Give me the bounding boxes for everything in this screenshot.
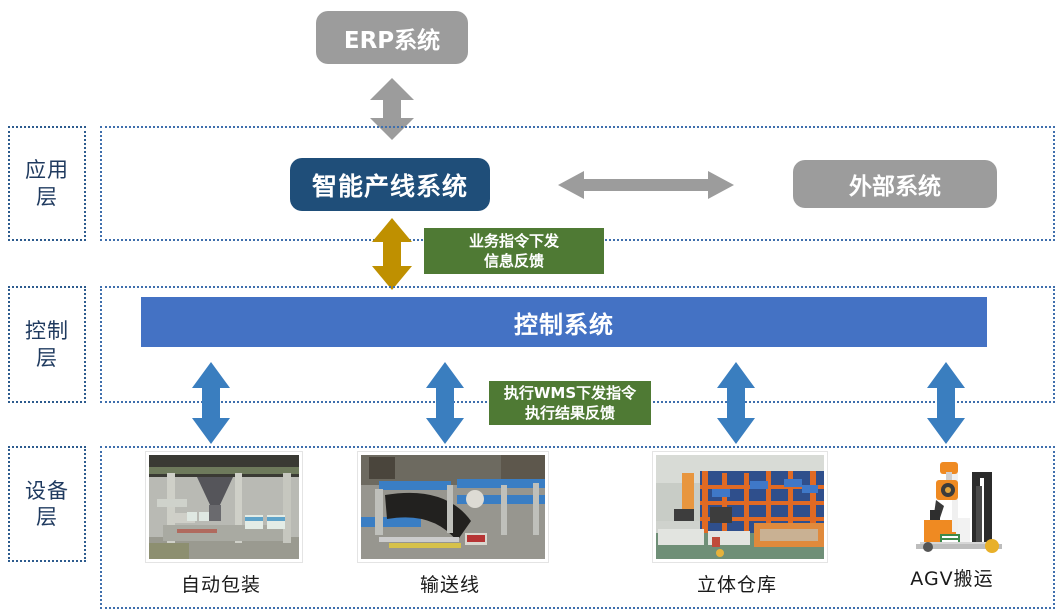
arrow-control-to-asrs	[715, 362, 757, 444]
node-erp-system[interactable]: ERP系统	[316, 11, 468, 64]
layer-label-control: 控制 层	[8, 286, 86, 403]
layer-label-control-line1: 控制	[24, 318, 70, 344]
arrow-control-to-agv	[925, 362, 967, 444]
automated-warehouse-photo	[653, 452, 827, 562]
device-card-agv-label: AGV搬运	[900, 564, 1004, 591]
device-card-packaging-label: 自动包装	[146, 570, 296, 597]
arrow-smartline-to-external	[558, 170, 734, 200]
device-card-conveyor[interactable]: 输送线	[358, 452, 542, 597]
node-erp-system-label: ERP系统	[344, 21, 440, 55]
device-card-asrs-label: 立体仓库	[653, 570, 821, 597]
layer-label-control-line2: 层	[24, 345, 70, 371]
node-smart-production-line-system-label: 智能产线系统	[312, 167, 468, 203]
flow-tag-business-instruction: 业务指令下发 信息反馈	[424, 228, 604, 274]
node-external-system-label: 外部系统	[849, 167, 941, 201]
layer-label-device: 设备 层	[8, 446, 86, 562]
device-card-conveyor-label: 输送线	[358, 570, 542, 597]
layer-label-application-line2: 层	[24, 184, 70, 210]
layer-label-application: 应用 层	[8, 126, 86, 241]
arrow-smartline-to-control	[370, 218, 414, 290]
arrow-control-to-conveyor	[424, 362, 466, 444]
node-control-system-label: 控制系统	[514, 305, 614, 340]
flow-tag-wms-line2: 执行结果反馈	[525, 403, 615, 423]
device-card-packaging[interactable]: 自动包装	[146, 452, 296, 597]
packaging-machine-photo	[146, 452, 302, 562]
flow-tag-business-line2: 信息反馈	[484, 251, 544, 271]
node-control-system[interactable]: 控制系统	[141, 297, 987, 347]
layer-label-device-line1: 设备	[24, 478, 70, 504]
node-external-system[interactable]: 外部系统	[793, 160, 997, 208]
flow-tag-wms-line1: 执行WMS下发指令	[504, 383, 636, 403]
device-card-asrs[interactable]: 立体仓库	[653, 452, 821, 597]
node-smart-production-line-system[interactable]: 智能产线系统	[290, 158, 490, 211]
conveyor-line-photo	[358, 452, 548, 562]
layer-label-application-line1: 应用	[24, 157, 70, 183]
flow-tag-business-line1: 业务指令下发	[469, 231, 559, 251]
architecture-diagram: ERP系统 应用 层 智能产线系统 外部系统 业务指令下发 信息反馈	[0, 0, 1061, 616]
agv-forklift-photo	[900, 452, 1004, 556]
device-card-agv[interactable]: AGV搬运	[900, 452, 1004, 591]
arrow-control-to-packaging	[190, 362, 232, 444]
layer-label-device-line2: 层	[24, 504, 70, 530]
flow-tag-wms-instruction: 执行WMS下发指令 执行结果反馈	[489, 381, 651, 425]
